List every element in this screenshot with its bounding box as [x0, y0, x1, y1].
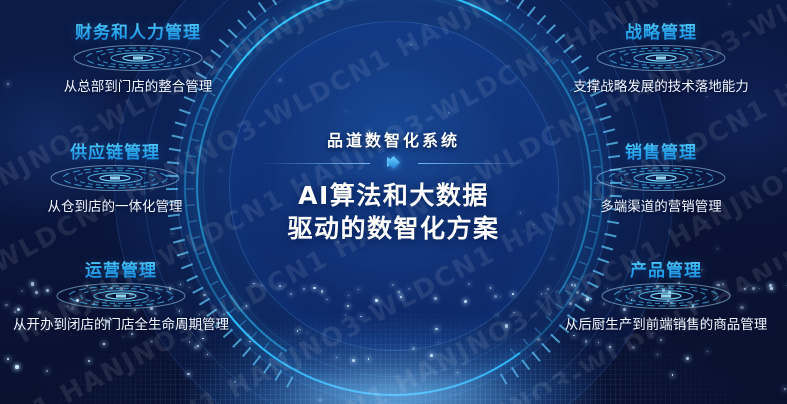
- item-supply-chain-desc: 从仓到店的一体化管理: [10, 195, 220, 215]
- item-operations-desc: 从开办到闭店的门店全生命周期管理: [0, 313, 242, 333]
- divider-diamond-icon: [387, 156, 400, 169]
- item-operations-heading: 运营管理: [0, 256, 242, 281]
- divider-line-right: [418, 163, 530, 164]
- item-sales-desc: 多端渠道的营销管理: [557, 195, 765, 215]
- radar-disc-icon: [53, 282, 189, 310]
- particle-dot: [705, 221, 706, 222]
- item-sales[interactable]: 销售管理 多端渠道的营销管理: [557, 138, 765, 215]
- item-product[interactable]: 产品管理 从后厨生产到前端销售的商品管理: [545, 256, 787, 333]
- diamond-divider-icon: [258, 158, 530, 169]
- center-panel: 品道数智化系统 AI算法和大数据 驱动的数智化方案: [244, 127, 544, 245]
- center-subtitle: 品道数智化系统: [244, 127, 544, 151]
- particle-dot: [172, 233, 173, 234]
- radar-disc-icon: [47, 164, 183, 192]
- particle-dot: [717, 248, 718, 249]
- particle-dot: [706, 96, 708, 98]
- item-finance-hr-heading: 财务和人力管理: [28, 18, 248, 43]
- item-product-desc: 从后厨生产到前端销售的商品管理: [545, 313, 787, 333]
- particle-dot: [728, 3, 730, 5]
- item-supply-chain[interactable]: 供应链管理 从仓到店的一体化管理: [10, 138, 220, 215]
- center-title-line2: 驱动的数智化方案: [244, 212, 544, 245]
- radar-disc-icon: [593, 44, 729, 72]
- item-product-heading: 产品管理: [545, 256, 787, 281]
- item-sales-heading: 销售管理: [557, 138, 765, 163]
- radar-disc-icon: [593, 164, 729, 192]
- item-strategy[interactable]: 战略管理 支撑战略发展的技术落地能力: [547, 18, 775, 95]
- center-title: AI算法和大数据 驱动的数智化方案: [244, 179, 544, 245]
- item-strategy-heading: 战略管理: [547, 18, 775, 43]
- particle-dot: [7, 83, 8, 84]
- item-operations[interactable]: 运营管理 从开办到闭店的门店全生命周期管理: [0, 256, 242, 333]
- radar-disc-icon: [598, 282, 734, 310]
- center-title-line1: AI算法和大数据: [244, 179, 544, 212]
- infographic-stage: HANJNO3-WLDCN1 HANJNO3-WLDCN1 HANJNO3-WL…: [0, 0, 787, 404]
- divider-line-left: [258, 163, 370, 164]
- item-finance-hr[interactable]: 财务和人力管理 从总部到门店的整合管理: [28, 18, 248, 95]
- item-supply-chain-heading: 供应链管理: [10, 138, 220, 163]
- item-strategy-desc: 支撑战略发展的技术落地能力: [547, 75, 775, 95]
- item-finance-hr-desc: 从总部到门店的整合管理: [28, 75, 248, 95]
- radar-disc-icon: [70, 44, 206, 72]
